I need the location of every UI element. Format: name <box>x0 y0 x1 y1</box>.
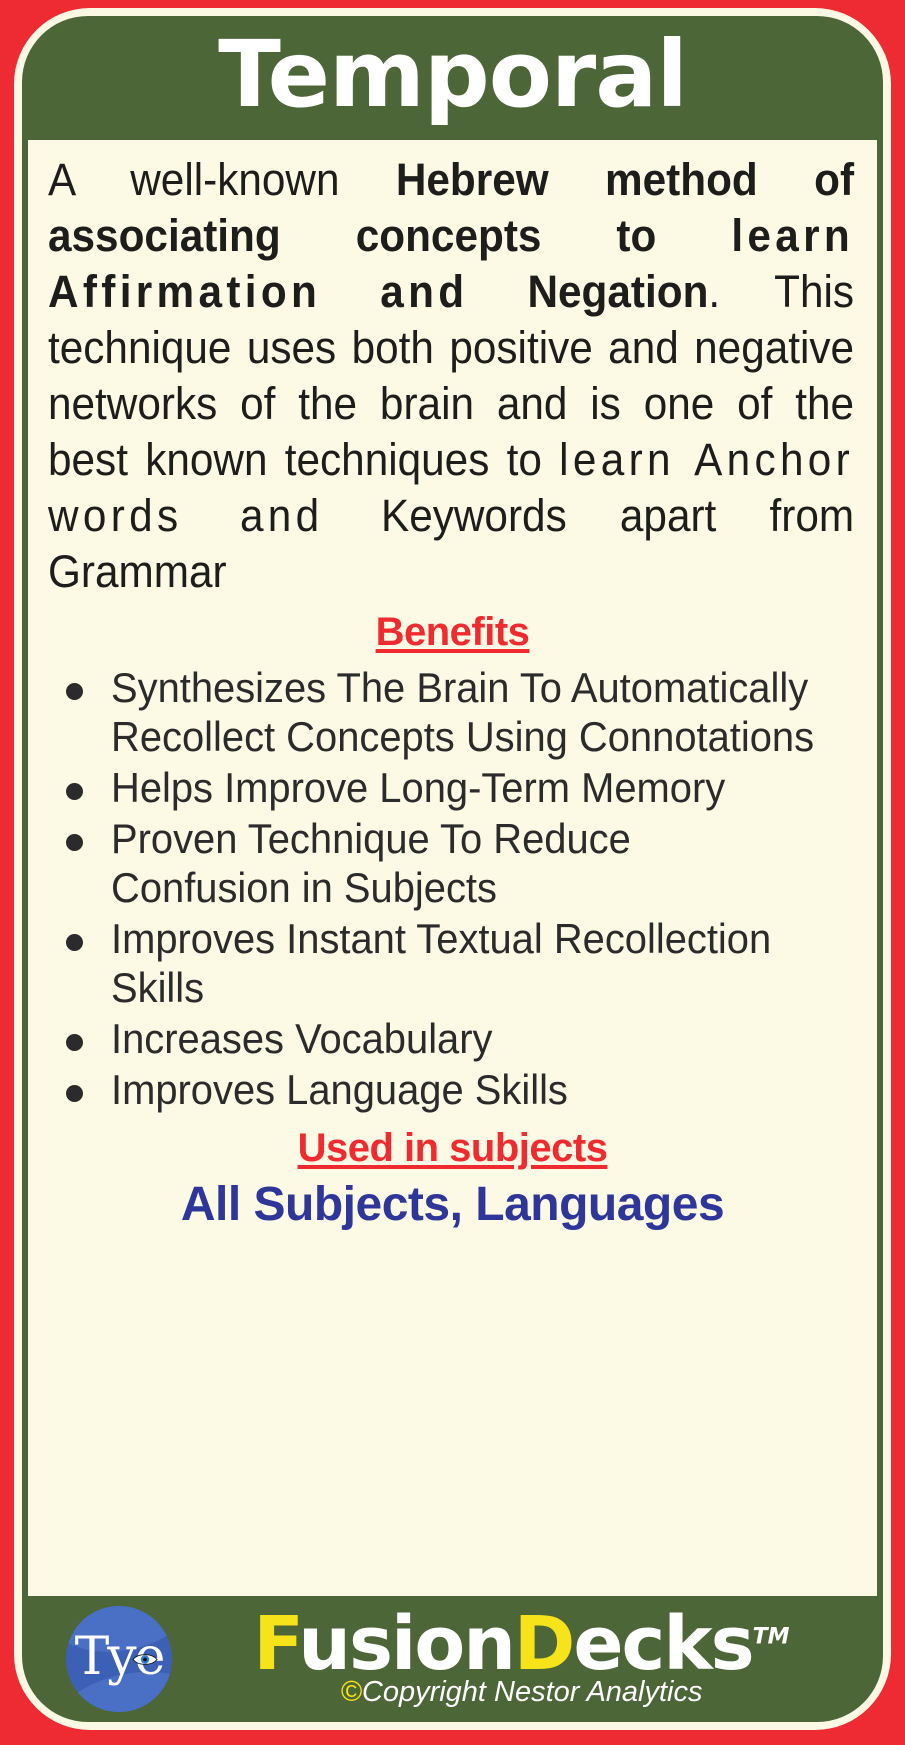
list-item: Proven Technique To Reduce Confusion in … <box>54 814 857 912</box>
list-item: Increases Vocabulary <box>54 1014 857 1063</box>
benefit-label: Improves Language Skills <box>111 1065 820 1114</box>
brand-block: FusionDecksTM ©Copyright Nestor Analytic… <box>186 1609 863 1709</box>
usage-heading: Used in subjects <box>48 1126 857 1171</box>
subjects-label: All Subjects, Languages <box>48 1177 857 1232</box>
intro-paragraph: A well-known Hebrew method of associatin… <box>48 152 854 600</box>
bullet-icon <box>66 783 83 800</box>
intro-text-lead: A well-known <box>48 154 396 205</box>
bullet-icon <box>66 934 83 951</box>
benefit-label: Proven Technique To Reduce Confusion in … <box>111 814 820 912</box>
brand-letter-d: D <box>514 1601 573 1687</box>
page-title: Temporal <box>218 29 687 127</box>
list-item: Improves Language Skills <box>54 1065 857 1114</box>
flashcard-page: Temporal A well-known Hebrew method of a… <box>0 0 905 1745</box>
benefit-label: Helps Improve Long-Term Memory <box>111 763 820 812</box>
brand-usion: usion <box>298 1601 514 1687</box>
card-footer: Tye FusionDecksTM ©Copyright Nestor Anal… <box>22 1596 883 1722</box>
brand-ecks: ecks <box>573 1601 752 1687</box>
card-header: Temporal <box>22 16 883 140</box>
bullet-icon <box>66 683 83 700</box>
benefits-list: Synthesizes The Brain To Automatically R… <box>54 663 857 1116</box>
benefits-heading: Benefits <box>48 610 857 655</box>
bullet-icon <box>66 1034 83 1051</box>
list-item: Helps Improve Long-Term Memory <box>54 763 857 812</box>
card-body: A well-known Hebrew method of associatin… <box>28 140 877 1596</box>
eye-icon <box>132 1652 158 1667</box>
tye-logo-icon: Tye <box>66 1606 172 1712</box>
list-item: Synthesizes The Brain To Automatically R… <box>54 663 857 761</box>
bullet-icon <box>66 834 83 851</box>
list-item: Improves Instant Textual Recollection Sk… <box>54 914 857 1012</box>
benefit-label: Improves Instant Textual Recollection Sk… <box>111 914 820 1012</box>
flashcard: Temporal A well-known Hebrew method of a… <box>22 16 883 1722</box>
intro-bold-negation: Negation <box>527 266 708 317</box>
trademark-symbol: TM <box>753 1624 790 1649</box>
brand-letter-f: F <box>253 1601 298 1687</box>
benefit-label: Synthesizes The Brain To Automatically R… <box>111 663 820 761</box>
benefit-label: Increases Vocabulary <box>111 1014 820 1063</box>
bullet-icon <box>66 1085 83 1102</box>
brand-name: FusionDecksTM <box>253 1609 789 1680</box>
